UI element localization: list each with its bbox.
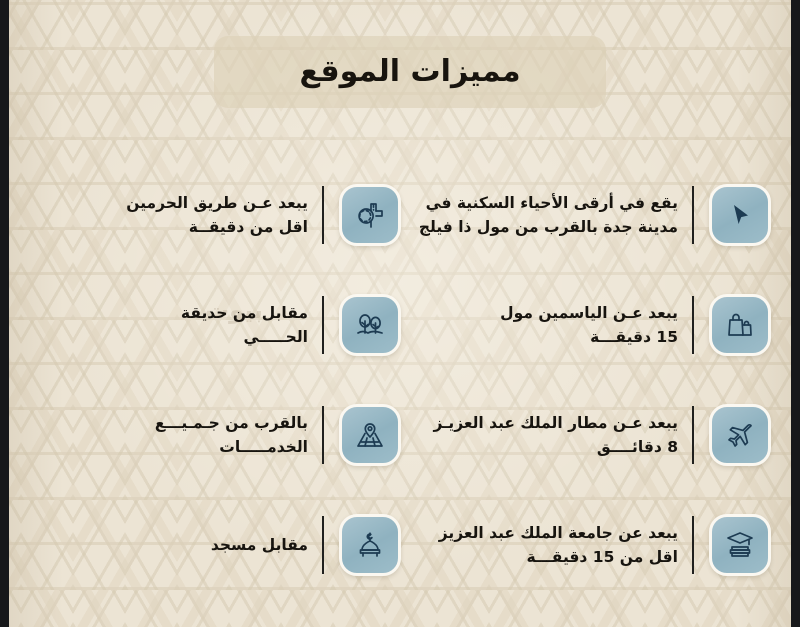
feature-text: يبعد عن جامعة الملك عبد العزيز اقل من 15… bbox=[409, 521, 678, 569]
feature-text: يبعد عـن الياسمين مول 15 دقيقـــة bbox=[409, 301, 678, 349]
page-title: مميزات الموقع bbox=[299, 57, 520, 87]
patterned-board: مميزات الموقع بيوت يقع في أرقى الأحياء ا… bbox=[9, 0, 791, 627]
left-edge-bar bbox=[0, 0, 9, 627]
features-column-left: يبعد عـن طريق الحرمين اقل من دقيقــة bbox=[39, 160, 401, 600]
feature-text-line: يبعد عـن الياسمين مول bbox=[409, 301, 678, 325]
feature-item: بالقرب من جـمـيـــع الخدمـــــات bbox=[39, 380, 401, 490]
feature-divider bbox=[692, 516, 694, 574]
feature-text: بالقرب من جـمـيـــع الخدمـــــات bbox=[39, 411, 308, 459]
park-trees-icon bbox=[339, 294, 401, 356]
feature-text-line: بالقرب من جـمـيـــع bbox=[39, 411, 308, 435]
graduation-books-icon bbox=[709, 514, 771, 576]
airplane-icon bbox=[709, 404, 771, 466]
feature-text-line: يبعد عن جامعة الملك عبد العزيز bbox=[409, 521, 678, 545]
feature-item: مقابل من حديقة الحـــــي bbox=[39, 270, 401, 380]
title-banner: مميزات الموقع bbox=[214, 36, 606, 108]
feature-item: يبعد عـن طريق الحرمين اقل من دقيقــة bbox=[39, 160, 401, 270]
feature-item: يقع في أرقى الأحياء السكنية في مدينة جدة… bbox=[409, 160, 771, 270]
feature-text: مقابل مسجد bbox=[39, 533, 308, 557]
right-edge-bar bbox=[791, 0, 800, 627]
features-column-right: يقع في أرقى الأحياء السكنية في مدينة جدة… bbox=[409, 160, 771, 600]
feature-text: مقابل من حديقة الحـــــي bbox=[39, 301, 308, 349]
feature-divider bbox=[322, 296, 324, 354]
feature-text-line: الخدمـــــات bbox=[39, 435, 308, 459]
feature-item: مقابل مسجد bbox=[39, 490, 401, 600]
feature-text-line: يقع في أرقى الأحياء السكنية في bbox=[409, 191, 678, 215]
feature-divider bbox=[322, 186, 324, 244]
feature-item: يبعد عن جامعة الملك عبد العزيز اقل من 15… bbox=[409, 490, 771, 600]
feature-text-line: 15 دقيقـــة bbox=[409, 325, 678, 349]
feature-text-line: الحـــــي bbox=[39, 325, 308, 349]
feature-text: يبعد عـن طريق الحرمين اقل من دقيقــة bbox=[39, 191, 308, 239]
feature-text-line: اقل من 15 دقيقـــة bbox=[409, 545, 678, 569]
feature-divider bbox=[692, 296, 694, 354]
mosque-icon bbox=[339, 514, 401, 576]
feature-divider bbox=[322, 516, 324, 574]
feature-text-line: مقابل مسجد bbox=[39, 533, 308, 557]
navigation-arrow-icon bbox=[709, 184, 771, 246]
feature-text-line: اقل من دقيقــة bbox=[39, 215, 308, 239]
feature-text: يبعد عـن مطار الملك عبد العزيـز 8 دقائــ… bbox=[409, 411, 678, 459]
feature-item: يبعد عـن مطار الملك عبد العزيـز 8 دقائــ… bbox=[409, 380, 771, 490]
feature-text-line: يبعد عـن طريق الحرمين bbox=[39, 191, 308, 215]
feature-divider bbox=[692, 406, 694, 464]
map-pin-icon bbox=[339, 404, 401, 466]
feature-text: يقع في أرقى الأحياء السكنية في مدينة جدة… bbox=[409, 191, 678, 239]
feature-text-line: مقابل من حديقة bbox=[39, 301, 308, 325]
feature-text-line: يبعد عـن مطار الملك عبد العزيـز bbox=[409, 411, 678, 435]
feature-item: يبعد عـن الياسمين مول 15 دقيقـــة bbox=[409, 270, 771, 380]
feature-text-line: مدينة جدة بالقرب من مول ذا فيلج bbox=[409, 215, 678, 239]
infographic-canvas: مميزات الموقع بيوت يقع في أرقى الأحياء ا… bbox=[0, 0, 800, 627]
feature-divider bbox=[322, 406, 324, 464]
feature-divider bbox=[692, 186, 694, 244]
feature-text-line: 8 دقائــــق bbox=[409, 435, 678, 459]
shopping-bags-icon bbox=[709, 294, 771, 356]
road-icon bbox=[339, 184, 401, 246]
